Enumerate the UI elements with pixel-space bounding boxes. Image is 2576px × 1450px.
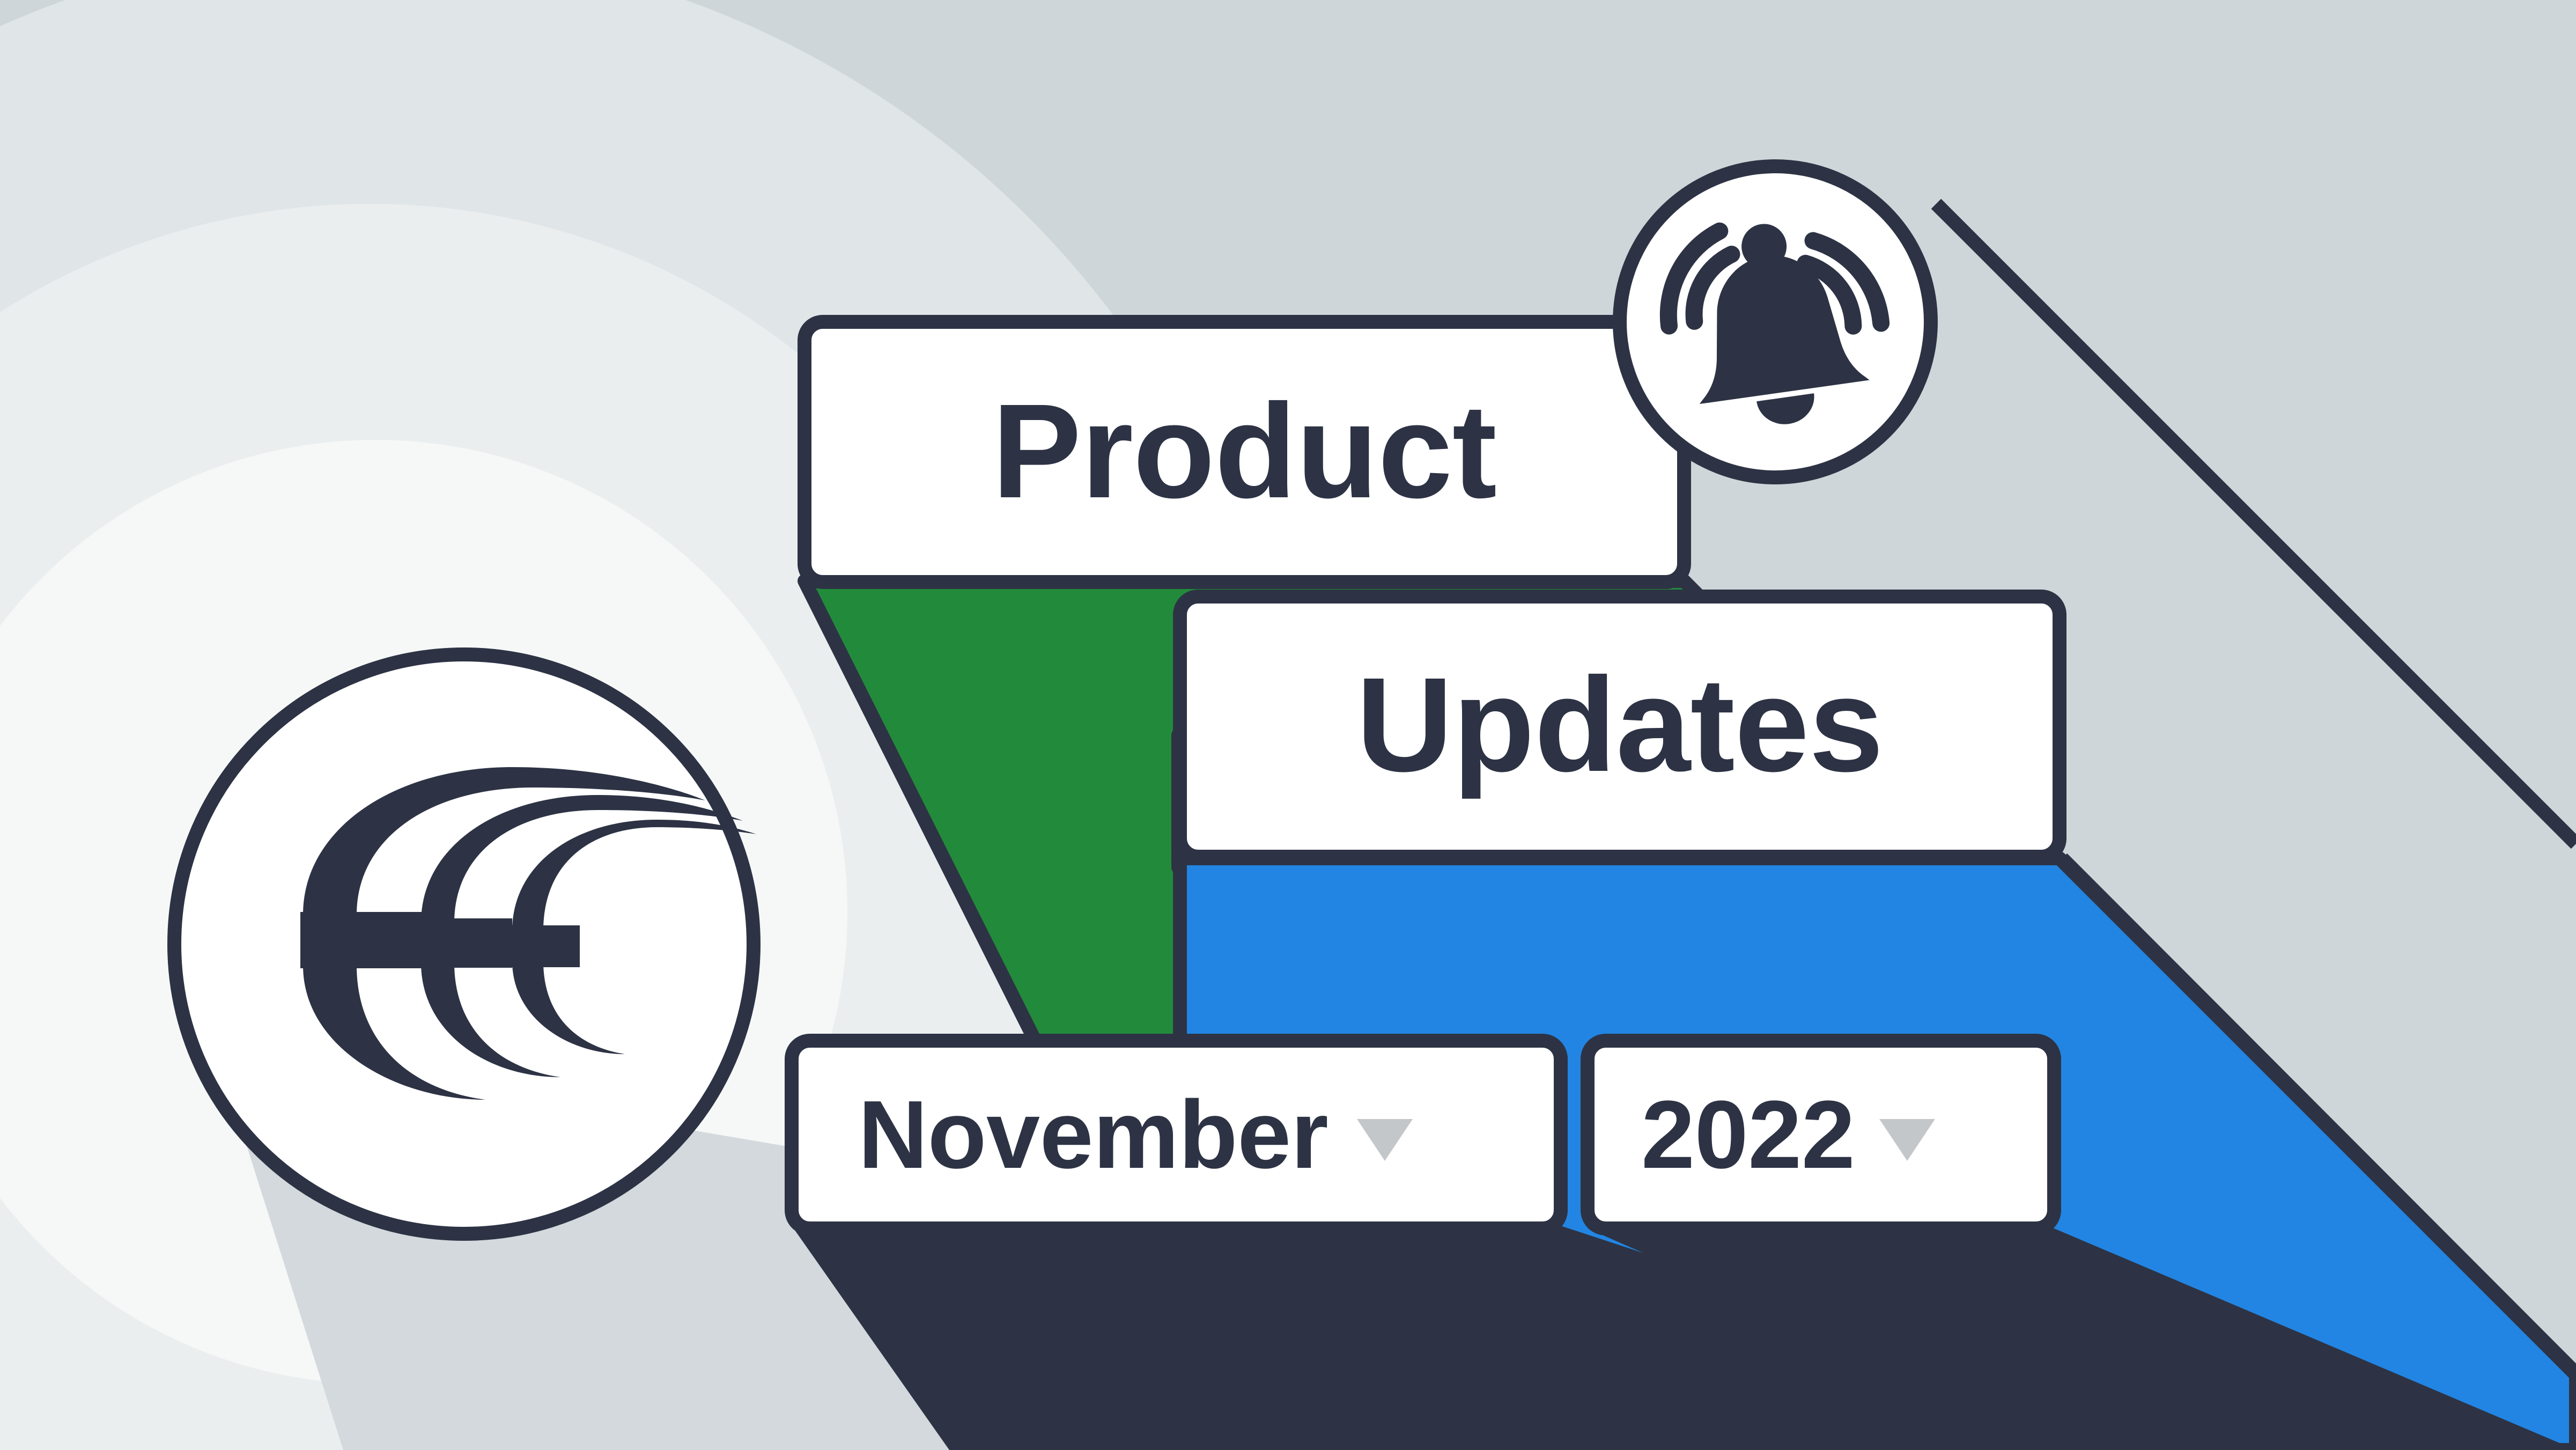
page-title-line-2: Updates bbox=[1180, 595, 2060, 853]
brand-logo-badge bbox=[174, 654, 756, 1234]
product-updates-banner: Product Updates November 2022 bbox=[0, 0, 2576, 1450]
year-select[interactable]: 2022 bbox=[1641, 1041, 2017, 1228]
month-select[interactable]: November bbox=[858, 1041, 1529, 1228]
month-select-value: November bbox=[858, 1079, 1328, 1190]
chevron-down-icon bbox=[1357, 1119, 1413, 1161]
page-title-line-1: Product bbox=[804, 322, 1684, 579]
chevron-down-icon bbox=[1879, 1119, 1935, 1161]
year-select-value: 2022 bbox=[1641, 1079, 1855, 1190]
